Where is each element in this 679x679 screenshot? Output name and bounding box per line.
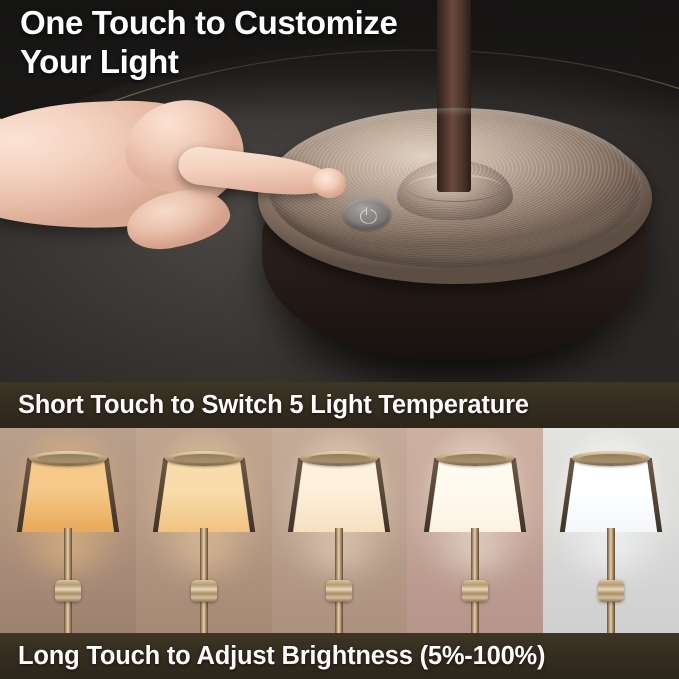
lamp-stem-ring [326,580,352,602]
temperature-cell-warmest-amber[interactable] [0,428,136,633]
lamp-shade-rim-inner [444,454,506,463]
lamp-stem-ring [462,580,488,602]
headline-line-2: Your Light [20,43,490,82]
lamp-figure [15,440,121,633]
product-feature-image: One Touch to Customize Your Light Short … [0,0,679,679]
lamp-figure [286,440,392,633]
index-fingertip [310,166,347,200]
lamp-figure [151,440,257,633]
lamp-stem-ring [598,580,624,602]
banner-short-touch-text: Short Touch to Switch 5 Light Temperatur… [0,391,529,420]
temperature-cell-soft-white[interactable] [407,428,543,633]
lamp-shade-rim-inner [308,454,370,463]
lamp-shade-rim-inner [37,454,99,463]
lamp-shade [565,458,657,532]
lamp-shade [22,458,114,532]
lamp-shade-rim-inner [173,454,235,463]
lamp-shade [158,458,250,532]
temperature-cell-neutral-warm-white[interactable] [272,428,408,633]
temperature-cell-cool-white[interactable] [543,428,679,633]
hero-section: One Touch to Customize Your Light [0,0,679,382]
lamp-shade [429,458,521,532]
lamp-figure [558,440,664,633]
lamp-figure [422,440,528,633]
banner-long-touch-text: Long Touch to Adjust Brightness (5%-100%… [0,642,545,671]
page-title: One Touch to Customize Your Light [20,4,490,81]
headline-line-1: One Touch to Customize [20,4,490,43]
lamp-stem-ring [191,580,217,602]
temperature-strip [0,428,679,633]
lamp-shade-rim-inner [580,454,642,463]
banner-long-touch: Long Touch to Adjust Brightness (5%-100%… [0,633,679,679]
temperature-cell-warm-amber[interactable] [136,428,272,633]
lamp-stem-ring [55,580,81,602]
banner-short-touch: Short Touch to Switch 5 Light Temperatur… [0,382,679,428]
lamp-shade [293,458,385,532]
pointing-hand [0,96,370,246]
